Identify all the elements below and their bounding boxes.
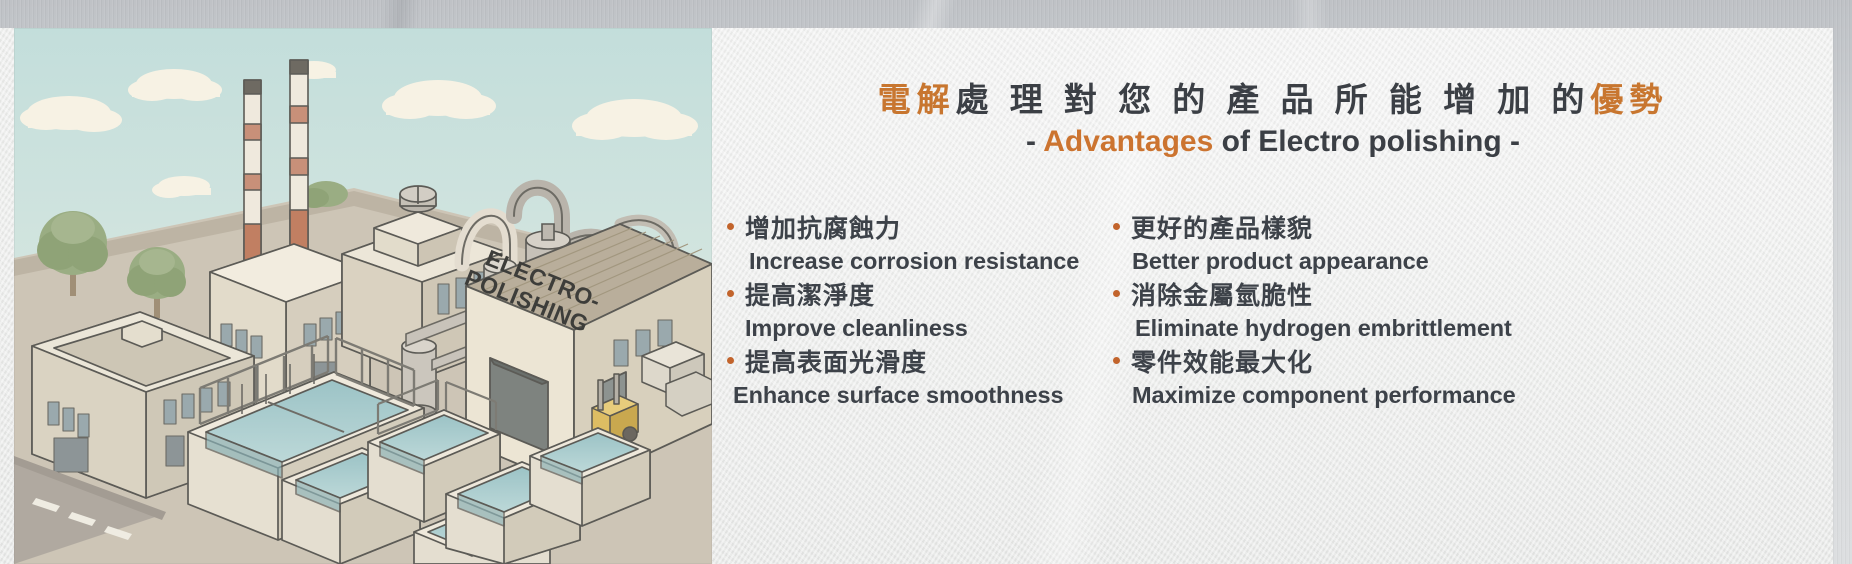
bullet-chinese-row: 更好的產品樣貌 [1113, 213, 1713, 246]
bullet-label-zh: 提高潔淨度 [745, 280, 875, 313]
content-card: ELECTRO- POLISHING [0, 28, 1833, 564]
bullet-label-zh: 更好的產品樣貌 [1131, 213, 1313, 246]
bullet-dot-icon [727, 290, 734, 297]
title-highlight-prefix: 電解 [878, 81, 956, 118]
subtitle-rest: of Electro polishing [1222, 125, 1502, 158]
factory-illustration: ELECTRO- POLISHING [14, 28, 712, 564]
bullet-label-zh: 增加抗腐蝕力 [745, 213, 901, 246]
bullet-label-en: Enhance surface smoothness [727, 380, 1113, 410]
list-item: 零件效能最大化 Maximize component performance [1113, 347, 1713, 410]
bullet-chinese-row: 增加抗腐蝕力 [727, 213, 1113, 246]
bullet-chinese-row: 提高表面光滑度 [727, 347, 1113, 380]
page-title-chinese: 電解處 理 對 您 的 產 品 所 能 增 加 的優勢 [713, 73, 1833, 121]
bullet-label-en: Better product appearance [1113, 246, 1713, 276]
bullet-dot-icon [1113, 223, 1120, 230]
bullet-label-zh: 消除金屬氫脆性 [1131, 280, 1313, 313]
subtitle-dash-left: - [1026, 125, 1036, 158]
bullet-label-zh: 零件效能最大化 [1131, 347, 1313, 380]
bullet-label-zh: 提高表面光滑度 [745, 347, 927, 380]
bullet-label-en: Increase corrosion resistance [727, 246, 1113, 276]
page-subtitle-english: - Advantages of Electro polishing - [713, 125, 1833, 159]
advantages-column-right: 更好的產品樣貌 Better product appearance 消除金屬氫脆… [1113, 213, 1713, 414]
subtitle-dash-right: - [1510, 125, 1520, 158]
bullet-dot-icon [727, 357, 734, 364]
bullet-label-en: Maximize component performance [1113, 380, 1713, 410]
bullet-label-en: Improve cleanliness [727, 313, 1113, 343]
bullet-dot-icon [1113, 357, 1120, 364]
advantages-content: 電解處 理 對 您 的 產 品 所 能 增 加 的優勢 - Advantages… [713, 28, 1833, 564]
bullet-label-en: Eliminate hydrogen embrittlement [1113, 313, 1713, 343]
advantages-columns: 增加抗腐蝕力 Increase corrosion resistance 提高潔… [713, 213, 1833, 414]
bullet-dot-icon [727, 223, 734, 230]
bullet-chinese-row: 提高潔淨度 [727, 280, 1113, 313]
subtitle-highlight: Advantages [1043, 125, 1213, 158]
list-item: 提高表面光滑度 Enhance surface smoothness [727, 347, 1113, 410]
list-item: 提高潔淨度 Improve cleanliness [727, 280, 1113, 343]
title-highlight-suffix: 優勢 [1590, 81, 1668, 118]
list-item: 增加抗腐蝕力 Increase corrosion resistance [727, 213, 1113, 276]
bullet-dot-icon [1113, 290, 1120, 297]
advantages-column-left: 增加抗腐蝕力 Increase corrosion resistance 提高潔… [713, 213, 1113, 414]
bullet-chinese-row: 消除金屬氫脆性 [1113, 280, 1713, 313]
title-middle: 處 理 對 您 的 產 品 所 能 增 加 的 [956, 81, 1591, 118]
slide: ELECTRO- POLISHING [0, 0, 1852, 564]
list-item: 消除金屬氫脆性 Eliminate hydrogen embrittlement [1113, 280, 1713, 343]
bullet-chinese-row: 零件效能最大化 [1113, 347, 1713, 380]
list-item: 更好的產品樣貌 Better product appearance [1113, 213, 1713, 276]
